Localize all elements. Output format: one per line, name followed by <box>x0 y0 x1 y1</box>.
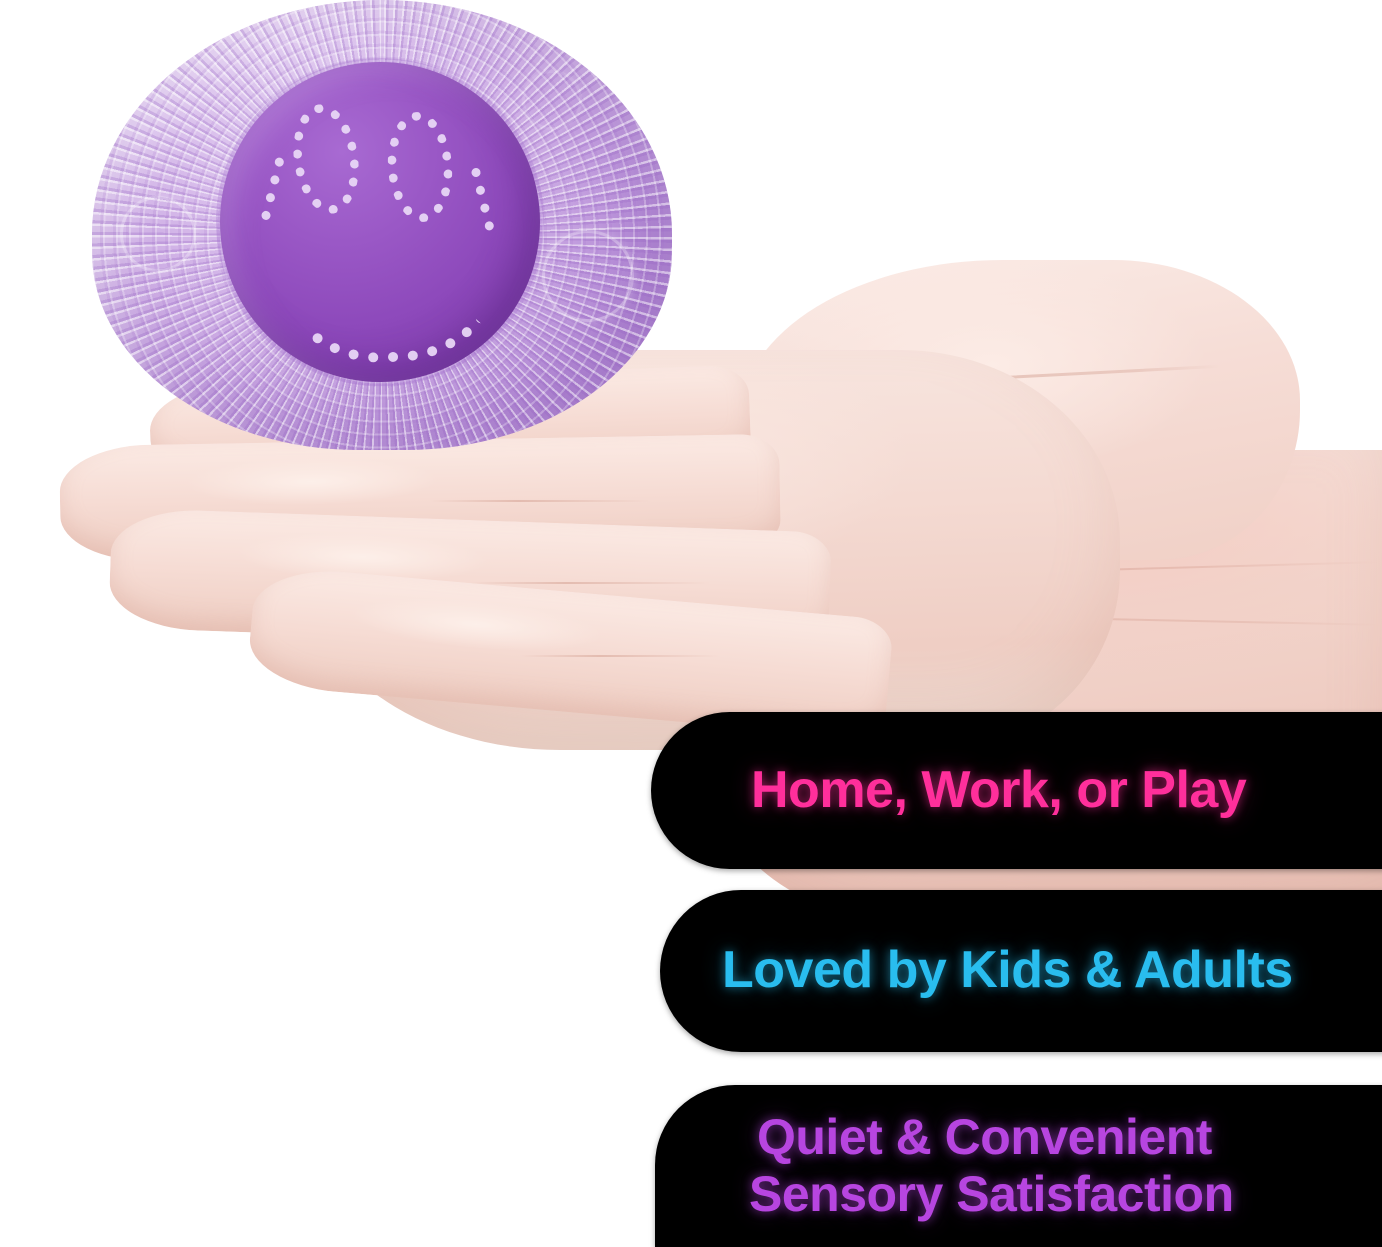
feature-banner-text-line-2: Sensory Satisfaction <box>725 1168 1234 1221</box>
embossed-smiley-icon <box>120 196 196 272</box>
feature-banner-text: Loved by Kids & Adults <box>722 943 1293 998</box>
spiky-puffer-ball <box>92 0 672 450</box>
feature-banner-text-line-1: Quiet & Convenient <box>725 1111 1212 1164</box>
knuckle-crease <box>430 500 650 502</box>
product-photo <box>0 0 1382 1247</box>
product-marketing-image: Home, Work, or Play Loved by Kids & Adul… <box>0 0 1382 1247</box>
feature-banner-text: Home, Work, or Play <box>751 763 1246 818</box>
embossed-smiley-icon <box>522 70 582 130</box>
knuckle-crease <box>520 655 720 657</box>
ball-face-disc <box>220 62 540 382</box>
feature-banner-home-work-play: Home, Work, or Play <box>651 712 1382 869</box>
feature-banner-loved-by-kids-adults: Loved by Kids & Adults <box>660 890 1382 1052</box>
knuckle-crease <box>470 582 710 584</box>
feature-banner-quiet-convenient-sensory: Quiet & Convenient Sensory Satisfaction <box>655 1085 1382 1247</box>
embossed-smiley-icon <box>542 230 634 322</box>
